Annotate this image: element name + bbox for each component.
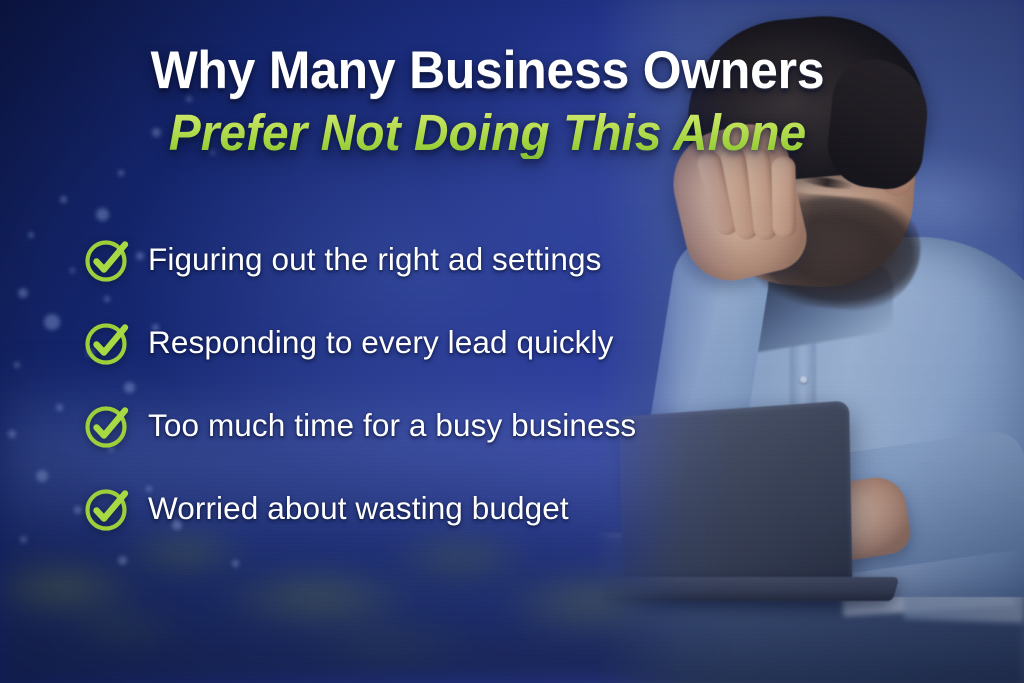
- check-circle-icon: [84, 320, 130, 366]
- check-circle-icon: [84, 403, 130, 449]
- headline-line-1: Why Many Business Owners: [29, 44, 946, 98]
- benefits-list: Figuring out the right ad settings Respo…: [84, 218, 704, 550]
- list-item: Too much time for a busy business: [84, 384, 704, 467]
- list-item-label: Worried about wasting budget: [148, 491, 569, 526]
- list-item-label: Too much time for a busy business: [148, 408, 636, 443]
- marketing-slide: Why Many Business Owners Prefer Not Doin…: [0, 0, 1024, 683]
- list-item-label: Figuring out the right ad settings: [148, 242, 601, 277]
- headline-block: Why Many Business Owners Prefer Not Doin…: [0, 44, 975, 159]
- list-item: Worried about wasting budget: [84, 467, 704, 550]
- list-item: Figuring out the right ad settings: [84, 218, 704, 301]
- headline-line-2: Prefer Not Doing This Alone: [29, 107, 946, 159]
- list-item: Responding to every lead quickly: [84, 301, 704, 384]
- check-circle-icon: [84, 237, 130, 283]
- slide-content: Why Many Business Owners Prefer Not Doin…: [0, 0, 1024, 683]
- check-circle-icon: [84, 486, 130, 532]
- list-item-label: Responding to every lead quickly: [148, 325, 613, 360]
